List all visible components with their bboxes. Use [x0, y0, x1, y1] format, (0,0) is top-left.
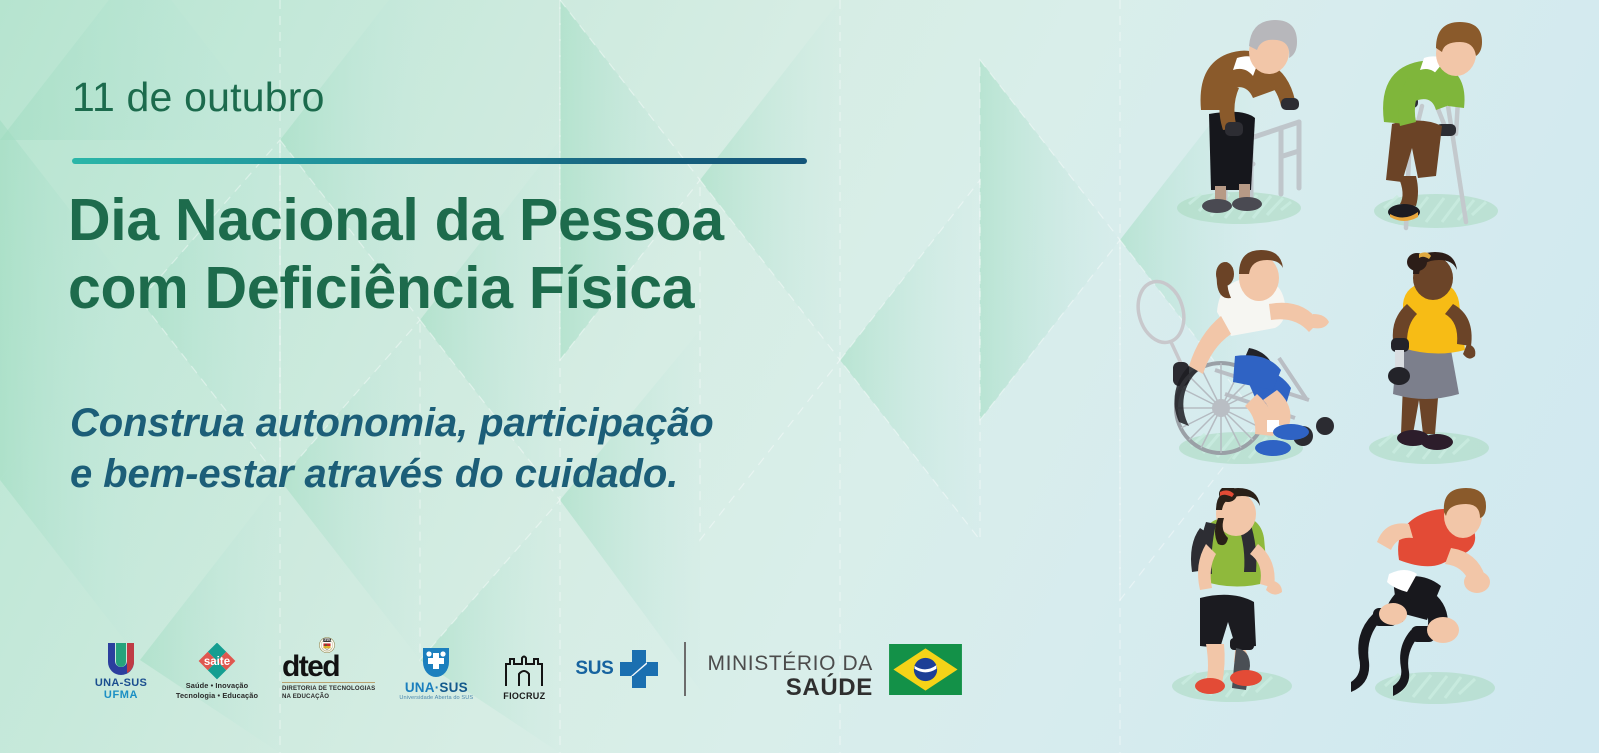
- illustration-man-crutches: [1344, 18, 1524, 248]
- logo-fiocruz: FIOCRUZ: [493, 637, 555, 701]
- logo-unasus: UNA·SUS Universidade Aberta do SUS: [393, 637, 479, 701]
- illustration-group: [1129, 0, 1599, 753]
- illustration-runner-blades: [1327, 488, 1527, 708]
- unasus-ufma-u-icon: [105, 641, 137, 675]
- illustration-woman-prosthetic-leg: [1144, 488, 1324, 708]
- unasus-ufma-line1: UNA-SUS: [95, 677, 147, 689]
- subtitle-line-1: Construa autonomia, participação: [70, 398, 930, 449]
- saite-diamond-icon: saite: [195, 643, 239, 681]
- logo-unasus-ufma: UNA-SUS UFMA: [82, 637, 160, 701]
- logo-ministerio-da-saude: MINISTÉRIO DA SAÚDE: [708, 637, 873, 701]
- ministerio-line1: MINISTÉRIO DA: [708, 652, 873, 675]
- unasus-word-light: UNA: [405, 680, 435, 695]
- title-line-2: com Deficiência Física: [68, 254, 928, 322]
- subtitle-line-2: e bem-estar através do cuidado.: [70, 449, 930, 500]
- unasus-ufma-line2: UFMA: [104, 689, 138, 701]
- illustration-woman-prosthetic-arm: [1341, 252, 1521, 470]
- logo-ufma-dted: UFMA dted DIRETORIA DE TECNOLOGIAS NA ED…: [278, 637, 375, 701]
- illustration-wheelchair-tennis: [1129, 250, 1344, 470]
- saite-caption-1: Saúde • Inovação: [186, 681, 249, 691]
- logo-bar-divider: [684, 642, 686, 696]
- campaign-subtitle: Construa autonomia, participação e bem-e…: [70, 398, 930, 500]
- fiocruz-castle-icon: [502, 652, 546, 688]
- fiocruz-wordmark: FIOCRUZ: [503, 691, 545, 701]
- unasus-sub: Universidade Aberta do SUS: [399, 695, 473, 701]
- campaign-banner: 11 de outubro Dia Nacional da Pessoa com…: [0, 0, 1599, 753]
- svg-text:UFMA: UFMA: [323, 639, 330, 642]
- logo-saite: saite Saúde • Inovação Tecnologia • Educ…: [168, 637, 266, 701]
- dted-wordmark: dted: [282, 653, 375, 680]
- sus-wordmark: SUS: [575, 658, 613, 680]
- ministerio-line2: SAÚDE: [786, 675, 873, 701]
- dted-sub-line1: DIRETORIA DE TECNOLOGIAS: [282, 685, 375, 693]
- sus-cross-icon: [616, 646, 662, 692]
- institutional-logo-bar: UNA-SUS UFMA saite Saúde • Inovação Tecn…: [82, 637, 962, 701]
- saite-caption-2: Tecnologia • Educação: [176, 691, 258, 701]
- page-title: Dia Nacional da Pessoa com Deficiência F…: [68, 186, 928, 323]
- dted-sub-line2: NA EDUCAÇÃO: [282, 693, 375, 701]
- illustration-elderly-walker: [1139, 18, 1329, 228]
- date-eyebrow: 11 de outubro: [72, 74, 325, 121]
- unasus-wordmark: UNA·SUS: [405, 680, 468, 695]
- unasus-word-bold: SUS: [439, 680, 467, 695]
- unasus-shield-icon: [419, 646, 453, 678]
- svg-text:saite: saite: [204, 656, 230, 668]
- title-line-1: Dia Nacional da Pessoa: [68, 186, 928, 254]
- brazil-flag-icon: [889, 644, 962, 695]
- title-divider-rule: [72, 158, 807, 164]
- logo-sus: SUS: [575, 637, 661, 701]
